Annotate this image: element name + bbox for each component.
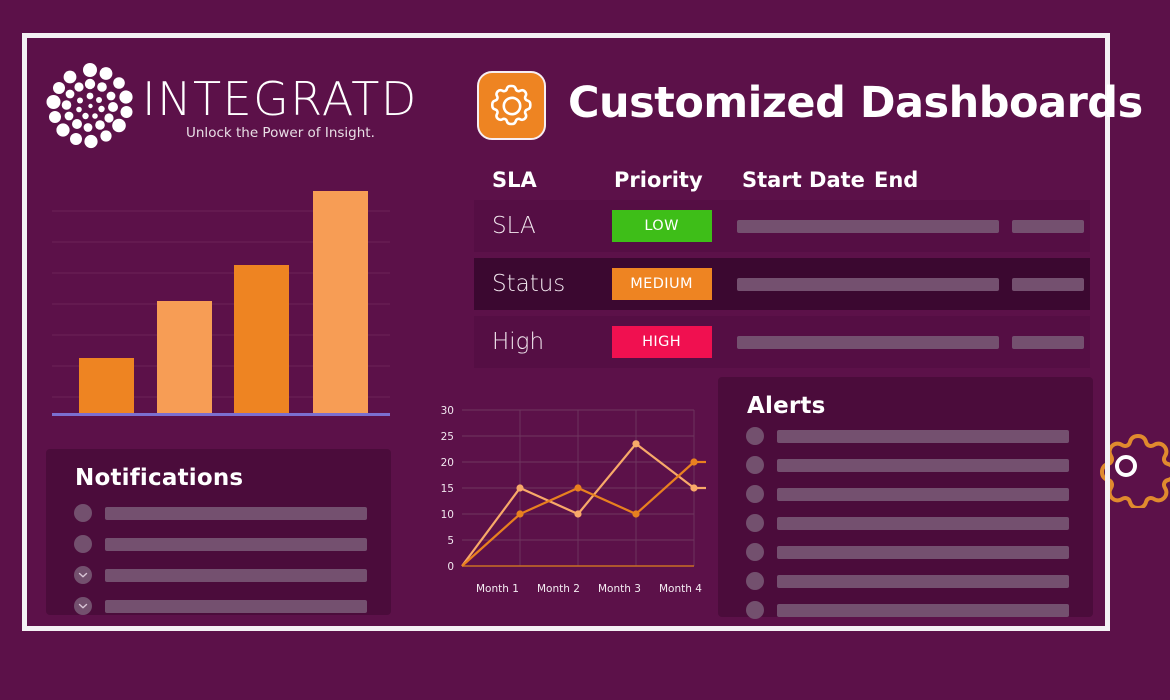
- dot-icon[interactable]: [746, 601, 764, 619]
- chevron-down-icon[interactable]: [74, 566, 92, 584]
- svg-text:Month 1: Month 1: [476, 583, 519, 595]
- table-body: SLALOWStatusMEDIUMHighHIGH: [474, 200, 1090, 368]
- alert-text-placeholder: [777, 517, 1069, 530]
- end-date-placeholder: [1012, 220, 1084, 233]
- svg-text:20: 20: [441, 457, 454, 469]
- status-badge[interactable]: MEDIUM: [612, 268, 712, 300]
- cell-end-date: [1012, 220, 1090, 233]
- alert-text-placeholder: [777, 575, 1069, 588]
- start-date-placeholder: [737, 336, 999, 349]
- brand-logo: INTEGRATD Unlock the Power of Insight.: [46, 62, 406, 162]
- cell-start-date: [737, 336, 1011, 349]
- alert-item[interactable]: [746, 572, 1069, 590]
- svg-text:Month 2: Month 2: [537, 583, 580, 595]
- start-date-placeholder: [737, 278, 999, 291]
- notifications-list[interactable]: [74, 504, 367, 615]
- line-chart-x-axis: Month 1 Month 2 Month 3 Month 4: [476, 583, 702, 595]
- alerts-title: Alerts: [747, 393, 826, 419]
- line-chart-y-axis: 30 25 20 15 10 5 0: [441, 405, 454, 573]
- alerts-list[interactable]: [746, 427, 1069, 619]
- alert-text-placeholder: [777, 604, 1069, 617]
- svg-text:Month 4: Month 4: [659, 583, 702, 595]
- alert-text-placeholder: [777, 459, 1069, 472]
- bar-chart-bars: [79, 191, 368, 414]
- column-header-end: End: [874, 168, 954, 192]
- notification-text-placeholder: [105, 507, 367, 520]
- notification-text-placeholder: [105, 569, 367, 582]
- cell-priority: LOW: [612, 210, 737, 242]
- notification-item[interactable]: [74, 535, 367, 553]
- svg-text:Month 3: Month 3: [598, 583, 641, 595]
- cell-sla-label: SLA: [492, 213, 612, 239]
- status-badge[interactable]: LOW: [612, 210, 712, 242]
- brand-tagline: Unlock the Power of Insight.: [186, 125, 375, 141]
- status-badge[interactable]: HIGH: [612, 326, 712, 358]
- dot-icon[interactable]: [746, 572, 764, 590]
- cell-priority: HIGH: [612, 326, 737, 358]
- notification-item[interactable]: [74, 504, 367, 522]
- cell-start-date: [737, 278, 1011, 291]
- table-header-row: SLA Priority Start Date End: [474, 160, 1090, 200]
- notification-item[interactable]: [74, 566, 367, 584]
- column-header-priority: Priority: [614, 168, 742, 192]
- chevron-down-icon[interactable]: [74, 597, 92, 615]
- end-date-placeholder: [1012, 278, 1084, 291]
- table-row[interactable]: SLALOW: [474, 200, 1090, 252]
- gear-icon: [489, 83, 535, 129]
- notification-text-placeholder: [105, 600, 367, 613]
- end-date-placeholder: [1012, 336, 1084, 349]
- column-header-sla: SLA: [492, 168, 614, 192]
- cell-sla-label: High: [492, 329, 612, 355]
- dot-icon[interactable]: [746, 427, 764, 445]
- cell-start-date: [737, 220, 1011, 233]
- svg-text:5: 5: [447, 535, 454, 547]
- brand-name: INTEGRATD: [142, 72, 418, 126]
- dot-icon[interactable]: [74, 504, 92, 522]
- notification-item[interactable]: [74, 597, 367, 615]
- alert-item[interactable]: [746, 601, 1069, 619]
- line-series-1: [462, 440, 698, 566]
- notifications-title: Notifications: [75, 465, 243, 491]
- dot-icon[interactable]: [74, 535, 92, 553]
- cell-sla-label: Status: [492, 271, 612, 297]
- bar-chart: [52, 182, 390, 422]
- cell-priority: MEDIUM: [612, 268, 737, 300]
- svg-text:25: 25: [441, 431, 454, 443]
- column-header-start-date: Start Date: [742, 168, 874, 192]
- svg-text:30: 30: [441, 405, 454, 417]
- svg-text:15: 15: [441, 483, 454, 495]
- alert-item[interactable]: [746, 543, 1069, 561]
- page-title: Customized Dashboards: [568, 78, 1143, 128]
- start-date-placeholder: [737, 220, 999, 233]
- alert-item[interactable]: [746, 456, 1069, 474]
- alert-text-placeholder: [777, 430, 1069, 443]
- notification-text-placeholder: [105, 538, 367, 551]
- notifications-panel: Notifications: [46, 449, 391, 615]
- alert-item[interactable]: [746, 427, 1069, 445]
- svg-text:10: 10: [441, 509, 454, 521]
- dashboard-slide: INTEGRATD Unlock the Power of Insight. N…: [0, 0, 1170, 700]
- radial-dot-mandala-logo-icon: [46, 62, 134, 150]
- alert-item[interactable]: [746, 514, 1069, 532]
- line-chart: 30 25 20 15 10 5 0: [416, 398, 706, 598]
- dot-icon[interactable]: [746, 543, 764, 561]
- alert-text-placeholder: [777, 546, 1069, 559]
- table-row[interactable]: HighHIGH: [474, 316, 1090, 368]
- gear-icon-badge: [477, 71, 546, 140]
- dot-icon[interactable]: [746, 485, 764, 503]
- alert-item[interactable]: [746, 485, 1069, 503]
- cell-end-date: [1012, 278, 1090, 291]
- svg-text:0: 0: [447, 561, 454, 573]
- dot-icon[interactable]: [746, 456, 764, 474]
- sla-table: SLA Priority Start Date End SLALOWStatus…: [474, 160, 1090, 374]
- alert-text-placeholder: [777, 488, 1069, 501]
- table-row[interactable]: StatusMEDIUM: [474, 258, 1090, 310]
- dot-icon[interactable]: [746, 514, 764, 532]
- cell-end-date: [1012, 336, 1090, 349]
- alerts-panel: Alerts: [718, 377, 1093, 617]
